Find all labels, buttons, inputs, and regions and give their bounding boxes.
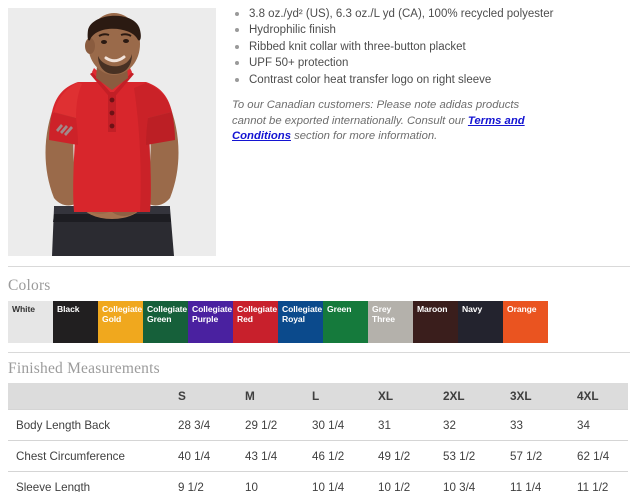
colors-heading: Colors (8, 277, 51, 295)
row-value: 46 1/2 (312, 441, 344, 472)
row-value: 49 1/2 (378, 441, 410, 472)
row-label: Sleeve Length (16, 472, 90, 492)
row-value: 57 1/2 (510, 441, 542, 472)
row-value: 40 1/4 (178, 441, 210, 472)
row-value: 9 1/2 (178, 472, 204, 492)
swatch-label: Collegiate Royal (282, 304, 322, 325)
row-value: 10 3/4 (443, 472, 475, 492)
note-text-end: section for more information. (291, 130, 437, 142)
row-value: 62 1/4 (577, 441, 609, 472)
canadian-customers-note: To our Canadian customers: Please note a… (232, 98, 554, 145)
color-swatch-collegiate-gold[interactable]: Collegiate Gold (98, 301, 143, 343)
color-swatch-collegiate-red[interactable]: Collegiate Red (233, 301, 278, 343)
column-header-l: L (312, 383, 319, 409)
table-row: Body Length Back 28 3/4 29 1/2 30 1/4 31… (8, 409, 628, 440)
row-label: Body Length Back (16, 410, 110, 441)
spec-bullet-item: 3.8 oz./yd² (US), 6.3 oz./L yd (CA), 100… (232, 6, 635, 22)
row-value: 10 1/4 (312, 472, 344, 492)
swatch-label: Collegiate Purple (192, 304, 232, 325)
swatch-label: Orange (507, 304, 547, 314)
color-swatch-row: White Black Collegiate Gold Collegiate G… (8, 301, 548, 343)
color-swatch-grey-three[interactable]: Grey Three (368, 301, 413, 343)
row-label: Chest Circumference (16, 441, 125, 472)
color-swatch-green[interactable]: Green (323, 301, 368, 343)
table-header-row: S M L XL 2XL 3XL 4XL (8, 383, 628, 409)
column-header-xl: XL (378, 383, 393, 409)
column-header-2xl: 2XL (443, 383, 465, 409)
color-swatch-black[interactable]: Black (53, 301, 98, 343)
spec-bullet-list: 3.8 oz./yd² (US), 6.3 oz./L yd (CA), 100… (232, 6, 635, 88)
spec-bullet-item: Hydrophilic finish (232, 22, 635, 38)
row-value: 11 1/2 (577, 472, 608, 492)
bullet-dot-icon (235, 45, 239, 49)
swatch-label: Green (327, 304, 367, 314)
table-row: Sleeve Length 9 1/2 10 10 1/4 10 1/2 10 … (8, 471, 628, 492)
product-specs: 3.8 oz./yd² (US), 6.3 oz./L yd (CA), 100… (232, 6, 635, 156)
row-value: 30 1/4 (312, 410, 344, 441)
row-value: 29 1/2 (245, 410, 277, 441)
swatch-label: Collegiate Gold (102, 304, 142, 325)
column-header-3xl: 3XL (510, 383, 532, 409)
color-swatch-collegiate-royal[interactable]: Collegiate Royal (278, 301, 323, 343)
spec-bullet-item: UPF 50+ protection (232, 55, 635, 71)
swatch-label: Navy (462, 304, 502, 314)
product-image[interactable] (8, 8, 216, 256)
row-value: 33 (510, 410, 523, 441)
color-swatch-maroon[interactable]: Maroon (413, 301, 458, 343)
row-value: 31 (378, 410, 391, 441)
spec-bullet-text: 3.8 oz./yd² (US), 6.3 oz./L yd (CA), 100… (249, 8, 553, 20)
row-value: 11 1/4 (510, 472, 541, 492)
column-header-s: S (178, 383, 186, 409)
table-row: Chest Circumference 40 1/4 43 1/4 46 1/2… (8, 440, 628, 471)
spec-bullet-text: Hydrophilic finish (249, 24, 336, 36)
spec-bullet-item: Ribbed knit collar with three-button pla… (232, 39, 635, 55)
swatch-label: White (12, 304, 52, 314)
model-photo-illustration (8, 8, 216, 256)
row-value: 43 1/4 (245, 441, 277, 472)
product-overview: 3.8 oz./yd² (US), 6.3 oz./L yd (CA), 100… (0, 0, 643, 262)
swatch-label: Collegiate Red (237, 304, 277, 325)
measurements-section-divider (8, 352, 630, 353)
spec-bullet-text: Contrast color heat transfer logo on rig… (249, 74, 491, 86)
spec-bullet-text: Ribbed knit collar with three-button pla… (249, 41, 466, 53)
spec-bullet-item: Contrast color heat transfer logo on rig… (232, 72, 635, 88)
color-swatch-collegiate-green[interactable]: Collegiate Green (143, 301, 188, 343)
bullet-dot-icon (235, 61, 239, 65)
colors-section-divider (8, 266, 630, 267)
column-header-4xl: 4XL (577, 383, 599, 409)
color-swatch-navy[interactable]: Navy (458, 301, 503, 343)
swatch-label: Collegiate Green (147, 304, 187, 325)
row-value: 53 1/2 (443, 441, 475, 472)
finished-measurements-table: S M L XL 2XL 3XL 4XL Body Length Back 28… (8, 383, 628, 492)
row-value: 28 3/4 (178, 410, 210, 441)
bullet-dot-icon (235, 28, 239, 32)
bullet-dot-icon (235, 78, 239, 82)
swatch-label: Maroon (417, 304, 457, 314)
column-header-m: M (245, 383, 255, 409)
swatch-label: Black (57, 304, 97, 314)
color-swatch-collegiate-purple[interactable]: Collegiate Purple (188, 301, 233, 343)
measurements-heading: Finished Measurements (8, 360, 160, 378)
swatch-label: Grey Three (372, 304, 412, 325)
color-swatch-white[interactable]: White (8, 301, 53, 343)
spec-bullet-text: UPF 50+ protection (249, 57, 348, 69)
product-detail-page: 3.8 oz./yd² (US), 6.3 oz./L yd (CA), 100… (0, 0, 643, 492)
bullet-dot-icon (235, 12, 239, 16)
row-value: 34 (577, 410, 590, 441)
color-swatch-orange[interactable]: Orange (503, 301, 548, 343)
row-value: 32 (443, 410, 456, 441)
row-value: 10 (245, 472, 258, 492)
row-value: 10 1/2 (378, 472, 410, 492)
